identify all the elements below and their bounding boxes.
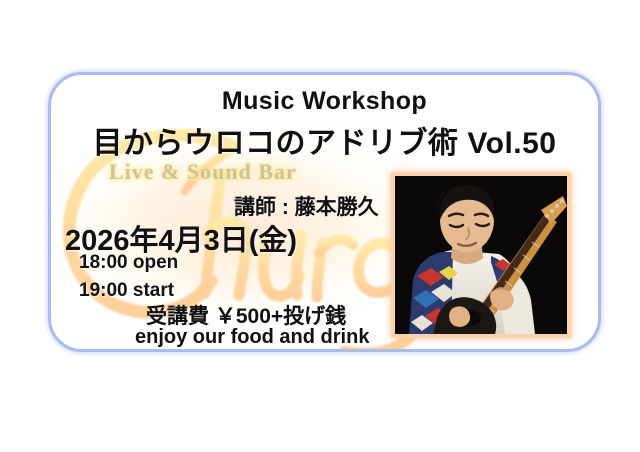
- event-flyer-card: Music Workshop 目からウロコのアドリブ術 Vol.50 Live …: [48, 72, 601, 352]
- door-open-time: 18:00 open: [79, 252, 178, 274]
- food-drink-note: enjoy our food and drink: [135, 326, 369, 349]
- page-title-japanese: 目からウロコのアドリブ術 Vol.50: [51, 118, 598, 162]
- performer-photo: [391, 172, 571, 338]
- page-title-english: Music Workshop: [51, 87, 598, 116]
- show-start-time: 19:00 start: [79, 280, 174, 302]
- venue-name: Live & Sound Bar: [109, 159, 297, 185]
